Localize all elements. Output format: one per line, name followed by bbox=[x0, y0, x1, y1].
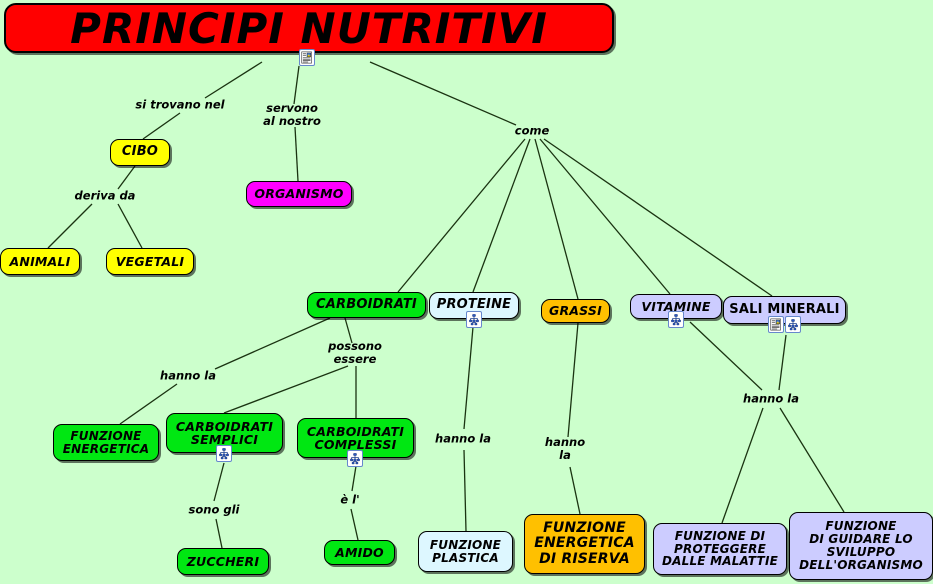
tree-icon[interactable] bbox=[466, 311, 482, 328]
edge-line bbox=[118, 204, 142, 248]
node-label: CARBOIDRATI SEMPLICI bbox=[176, 420, 273, 447]
edge-label-e-l[interactable]: è l' bbox=[340, 494, 359, 507]
node-organismo[interactable]: ORGANISMO bbox=[246, 181, 352, 207]
node-label: FUNZIONE ENERGETICA DI RISERVA bbox=[534, 521, 635, 566]
node-label: FUNZIONE PLASTICA bbox=[430, 539, 501, 565]
node-label: ORGANISMO bbox=[254, 187, 343, 201]
node-icons-proteine bbox=[466, 311, 482, 328]
edge-line bbox=[570, 467, 580, 514]
node-label: VEGETALI bbox=[116, 255, 184, 269]
edge-line bbox=[216, 519, 222, 548]
edge-line bbox=[535, 139, 578, 299]
edge-label-come[interactable]: come bbox=[515, 125, 550, 138]
node-label: AMIDO bbox=[335, 546, 384, 560]
edge-line bbox=[568, 323, 578, 437]
edge-line bbox=[370, 62, 516, 125]
node-funzione-energetica-riserva[interactable]: FUNZIONE ENERGETICA DI RISERVA bbox=[524, 514, 645, 574]
edge-label-si-trovano-nel[interactable]: si trovano nel bbox=[135, 99, 224, 112]
concept-map-canvas: PRINCIPI NUTRITIVI CIBOORGANISMOANIMALIV… bbox=[0, 0, 933, 584]
edge-line bbox=[351, 509, 358, 540]
title-note-icon bbox=[299, 49, 315, 66]
edge-line bbox=[48, 204, 92, 248]
edge-line bbox=[722, 408, 763, 523]
node-label: ZUCCHERI bbox=[187, 555, 259, 569]
edge-line bbox=[294, 66, 299, 104]
edge-label-hanno-la-proteine[interactable]: hanno la bbox=[435, 433, 491, 446]
node-animali[interactable]: ANIMALI bbox=[0, 248, 80, 275]
edge-line bbox=[464, 450, 466, 531]
edge-label-sono-gli[interactable]: sono gli bbox=[189, 504, 240, 517]
tree-icon[interactable] bbox=[347, 450, 363, 467]
edge-line bbox=[690, 322, 762, 390]
node-icons-vitamine bbox=[668, 311, 684, 328]
edge-line bbox=[214, 463, 224, 501]
node-label: FUNZIONE ENERGETICA bbox=[63, 430, 149, 456]
edge-line bbox=[215, 318, 330, 369]
node-label: SALI MINERALI bbox=[729, 303, 839, 317]
node-label: CIBO bbox=[122, 145, 158, 159]
node-label: CARBOIDRATI COMPLESSI bbox=[307, 425, 404, 452]
edge-label-deriva-da[interactable]: deriva da bbox=[75, 190, 136, 203]
node-zuccheri[interactable]: ZUCCHERI bbox=[177, 548, 269, 575]
edge-label-hanno-la-grassi[interactable]: hanno la bbox=[545, 436, 585, 462]
edge-line bbox=[224, 366, 348, 413]
node-label: FUNZIONE DI GUIDARE LO SVILUPPO DELL'ORG… bbox=[799, 520, 923, 572]
node-icons-sali-minerali bbox=[768, 316, 801, 333]
edge-line bbox=[352, 466, 356, 491]
edge-line bbox=[143, 113, 180, 139]
node-vegetali[interactable]: VEGETALI bbox=[106, 248, 194, 275]
map-title-label: PRINCIPI NUTRITIVI bbox=[70, 4, 548, 53]
edge-line bbox=[473, 139, 530, 292]
node-label: FUNZIONE DI PROTEGGERE DALLE MALATTIE bbox=[662, 530, 778, 569]
node-carboidrati[interactable]: CARBOIDRATI bbox=[307, 292, 426, 318]
node-grassi[interactable]: GRASSI bbox=[541, 299, 610, 323]
note-icon[interactable] bbox=[768, 316, 784, 333]
node-funzione-guidare[interactable]: FUNZIONE DI GUIDARE LO SVILUPPO DELL'ORG… bbox=[789, 512, 933, 580]
node-icons-carboidrati-complessi bbox=[347, 450, 363, 467]
edge-line bbox=[205, 62, 262, 98]
edge-line bbox=[540, 139, 670, 294]
node-label: CARBOIDRATI bbox=[316, 298, 417, 312]
node-funzione-proteggere[interactable]: FUNZIONE DI PROTEGGERE DALLE MALATTIE bbox=[653, 523, 787, 575]
edge-label-hanno-la-carbo[interactable]: hanno la bbox=[160, 370, 216, 383]
map-title-node[interactable]: PRINCIPI NUTRITIVI bbox=[4, 3, 614, 53]
node-cibo[interactable]: CIBO bbox=[110, 139, 170, 166]
edge-line bbox=[398, 139, 525, 292]
edge-label-hanno-la-vitamine[interactable]: hanno la bbox=[743, 393, 799, 406]
node-icons-carboidrati-semplici bbox=[216, 445, 232, 462]
edge-line bbox=[780, 408, 844, 512]
edge-label-possono-essere[interactable]: possono essere bbox=[328, 340, 382, 366]
tree-icon[interactable] bbox=[668, 311, 684, 328]
tree-icon[interactable] bbox=[216, 445, 232, 462]
node-amido[interactable]: AMIDO bbox=[324, 540, 395, 565]
edge-line bbox=[464, 327, 473, 429]
edge-line bbox=[544, 139, 772, 296]
node-funzione-plastica[interactable]: FUNZIONE PLASTICA bbox=[418, 531, 513, 572]
node-label: GRASSI bbox=[549, 304, 602, 318]
edge-line bbox=[779, 335, 786, 390]
edge-line bbox=[295, 127, 298, 181]
edge-label-servono-al-nostro[interactable]: servono al nostro bbox=[263, 102, 321, 128]
tree-icon[interactable] bbox=[785, 316, 801, 333]
edge-line bbox=[118, 166, 135, 189]
note-icon[interactable] bbox=[299, 49, 315, 66]
node-funzione-energetica[interactable]: FUNZIONE ENERGETICA bbox=[53, 424, 159, 461]
node-label: ANIMALI bbox=[10, 255, 71, 269]
